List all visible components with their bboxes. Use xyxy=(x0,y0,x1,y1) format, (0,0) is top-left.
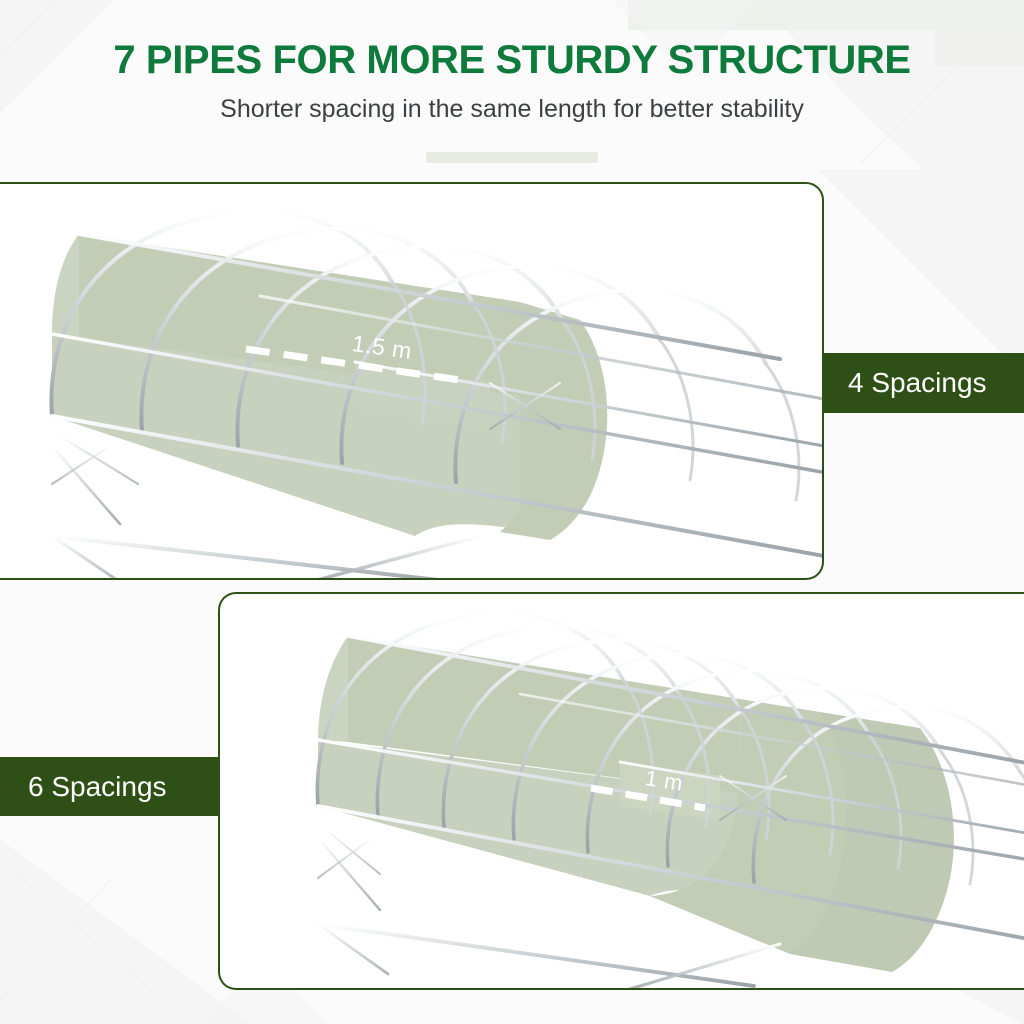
panel-bottom-6-spacings xyxy=(218,592,1024,990)
page-subtitle: Shorter spacing in the same length for b… xyxy=(0,95,1024,124)
greenhouse-illustration-4-spacings xyxy=(0,184,822,578)
header: 7 PIPES FOR MORE STURDY STRUCTURE Shorte… xyxy=(0,0,1024,178)
page-title: 7 PIPES FOR MORE STURDY STRUCTURE xyxy=(0,38,1024,83)
badge-4-spacings: 4 Spacings xyxy=(824,353,1024,413)
greenhouse-illustration-6-spacings xyxy=(220,594,1024,988)
title-divider xyxy=(426,152,598,163)
panel-top-4-spacings xyxy=(0,182,824,580)
badge-6-spacings: 6 Spacings xyxy=(0,757,219,816)
